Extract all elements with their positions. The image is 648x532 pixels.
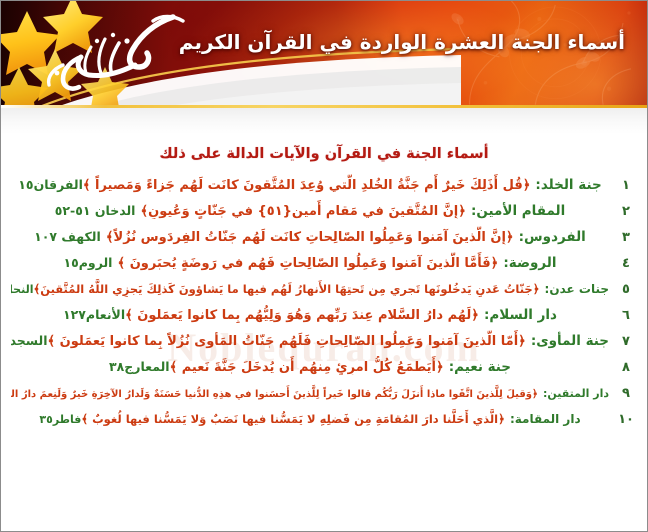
verse-reference: الفرقان١٥ [18,177,83,192]
list-item: ٧ جنة المأوى: ﴿أَمّا الَّذينَ آمَنوا وَع… [11,328,635,354]
list-item-index: ٥ [617,282,635,297]
paradise-name: جنة المأوى: [531,333,609,349]
paradise-name: الفردوس: [519,229,586,245]
list-item-body: الفردوس: ﴿إِنَّ الَّذينَ آمَنوا وَعَمِلُ… [11,226,609,245]
list-item: ٨ جنة نعيم: ﴿أَيَطمَعُ كُلُّ امرِئٍ مِنه… [11,354,635,380]
paradise-name: جنات عدن: [545,282,609,296]
list-item-body: جنات عدن: ﴿جَنّاتُ عَدنٍ يَدخُلونَها تَج… [11,278,609,297]
list-item-index: ١٠ [617,412,635,427]
quran-verse: ﴿قُل أَذَلِكَ خَيرٌ أَم جَنَّةُ الخُلدِ … [83,178,530,193]
content-area: Noblequran.com أسماء الجنة في القرآن وال… [1,146,647,432]
list-item-body: جنة نعيم: ﴿أَيَطمَعُ كُلُّ امرِئٍ مِنهُم… [11,356,609,375]
paradise-name: جنة الخلد: [535,177,601,193]
list-item-index: ٨ [617,360,635,375]
list-item-body: المقام الأمين: ﴿إِنَّ المُتَّقينَ في مَق… [11,200,609,219]
page-title: أسماء الجنة العشرة الواردة في القرآن الك… [223,30,625,54]
list-item-body: جنة الخلد: ﴿قُل أَذَلِكَ خَيرٌ أَم جَنَّ… [11,174,609,193]
quran-verse: ﴿لَهُم دارُ السَّلامِ عِندَ رَبِّهِم وَه… [125,308,479,323]
paradise-name: الروضة: [503,255,556,271]
list-item: ١٠ دار المقامة: ﴿الَّذي أَحَلَّنا دارَ ا… [11,406,635,432]
quran-verse: ﴿إِنَّ الَّذينَ آمَنوا وَعَمِلُوا الصّال… [106,230,514,245]
quran-verse: ﴿الَّذي أَحَلَّنا دارَ المُقامَةِ مِن فَ… [81,412,504,426]
list-item-index: ٦ [617,308,635,323]
list-item-body: جنة المأوى: ﴿أَمّا الَّذينَ آمَنوا وَعَم… [11,330,609,349]
list-item-index: ٧ [617,334,635,349]
header-banner: أسماء الجنة العشرة الواردة في القرآن الك… [1,1,647,105]
list-item-index: ٩ [617,386,635,401]
infographic-page: أسماء الجنة العشرة الواردة في القرآن الك… [0,0,648,532]
quran-verse: ﴿وَقيلَ لِلَّذينَ اتَّقَوا ماذا أَنزَلَ … [11,389,538,400]
calligraphy-logo [23,7,203,103]
paradise-names-list: ١ جنة الخلد: ﴿قُل أَذَلِكَ خَيرٌ أَم جَن… [5,172,643,432]
quran-verse: ﴿أَمّا الَّذينَ آمَنوا وَعَمِلُوا الصّال… [48,334,526,349]
verse-reference: الكهف ١٠٧ [34,229,101,244]
quran-verse: ﴿إِنَّ المُتَّقينَ في مَقامٍ أَمينٍ{٥١} … [141,204,466,219]
verse-reference: الدخان ٥١-٥٢ [55,203,136,218]
paradise-name: جنة نعيم: [449,359,511,375]
paradise-name: دار المتقين: [543,387,609,400]
list-item: ٥ جنات عدن: ﴿جَنّاتُ عَدنٍ يَدخُلونَها ت… [11,276,635,302]
verse-reference: الروم١٥ [64,255,113,270]
list-item-body: دار المتقين: ﴿وَقيلَ لِلَّذينَ اتَّقَوا … [11,382,609,401]
list-item-body: دار السلام: ﴿لَهُم دارُ السَّلامِ عِندَ … [11,304,609,323]
banner-shelf [1,108,647,134]
verse-reference: المعارج٣٨ [109,359,170,374]
list-item: ٩ دار المتقين: ﴿وَقيلَ لِلَّذينَ اتَّقَو… [11,380,635,406]
list-item-index: ٣ [617,230,635,245]
verse-reference: فاطر٣٥ [39,413,81,426]
list-item-body: دار المقامة: ﴿الَّذي أَحَلَّنا دارَ المُ… [11,408,609,427]
quran-verse: ﴿أَيَطمَعُ كُلُّ امرِئٍ مِنهُم أَن يُدخَ… [170,360,444,375]
list-item-index: ٢ [617,204,635,219]
verse-reference: النحل٣١ [11,283,34,296]
paradise-name: دار السلام: [484,307,557,323]
list-item-body: الروضة: ﴿فَأَمَّا الَّذينَ آمَنوا وَعَمِ… [11,252,609,271]
paradise-name: دار المقامة: [510,412,581,426]
list-item: ٦ دار السلام: ﴿لَهُم دارُ السَّلامِ عِند… [11,302,635,328]
subtitle: أسماء الجنة في القرآن والآيات الدالة على… [5,146,643,162]
verse-reference: السجدة١٩ [11,333,48,348]
paradise-name: المقام الأمين: [471,203,565,219]
list-item: ١ جنة الخلد: ﴿قُل أَذَلِكَ خَيرٌ أَم جَن… [11,172,635,198]
list-item-index: ٤ [617,256,635,271]
list-item: ٣ الفردوس: ﴿إِنَّ الَّذينَ آمَنوا وَعَمِ… [11,224,635,250]
verse-reference: الأنعام١٢٧ [63,307,125,322]
quran-verse: ﴿جَنّاتُ عَدنٍ يَدخُلونَها تَجري مِن تَح… [34,282,540,296]
list-item: ٢ المقام الأمين: ﴿إِنَّ المُتَّقينَ في م… [11,198,635,224]
quran-verse: ﴿فَأَمَّا الَّذينَ آمَنوا وَعَمِلُوا الص… [118,256,499,271]
list-item-index: ١ [617,178,635,193]
list-item: ٤ الروضة: ﴿فَأَمَّا الَّذينَ آمَنوا وَعَ… [11,250,635,276]
